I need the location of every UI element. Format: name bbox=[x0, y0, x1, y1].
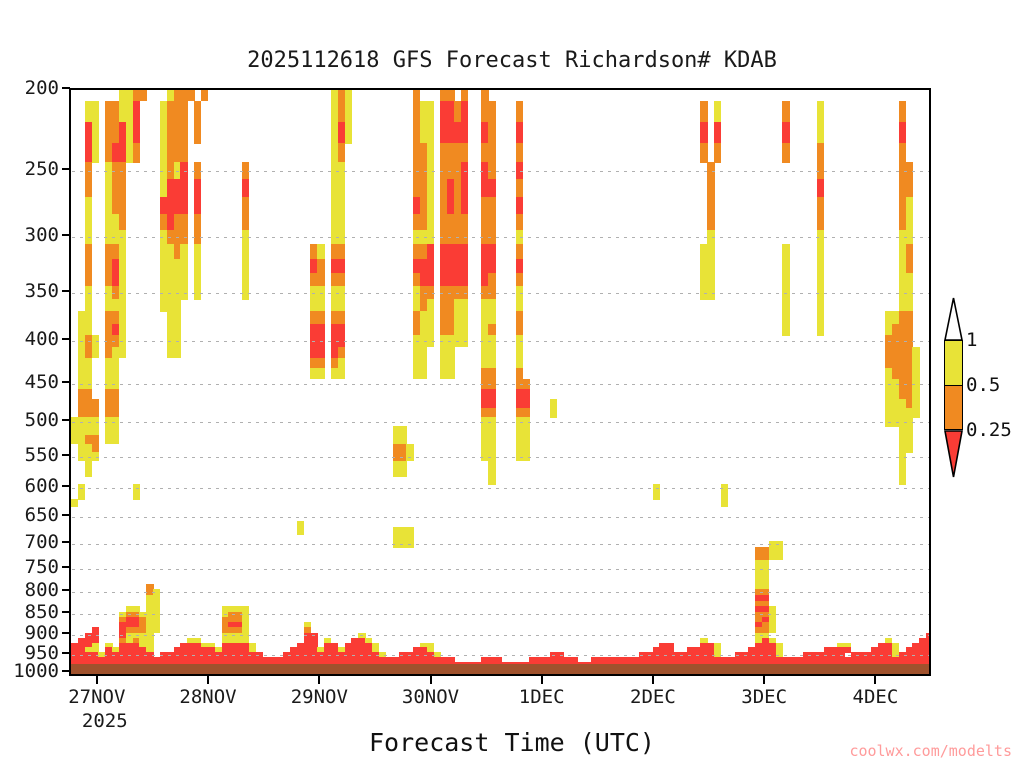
heatmap-cell bbox=[331, 162, 345, 180]
y-tick-mark bbox=[62, 338, 70, 340]
heatmap-cell bbox=[516, 179, 523, 197]
heatmap-cell bbox=[194, 179, 201, 197]
heatmap-cell bbox=[481, 347, 495, 359]
heatmap-cell bbox=[92, 122, 99, 144]
heatmap-cell bbox=[331, 299, 345, 312]
y-tick-mark bbox=[62, 454, 70, 456]
heatmap-cell bbox=[892, 324, 913, 336]
heatmap-cell bbox=[782, 244, 789, 259]
heatmap-cell bbox=[167, 230, 188, 245]
heatmap-cell bbox=[899, 162, 913, 180]
heatmap-cell bbox=[310, 273, 324, 287]
heatmap-cell bbox=[906, 244, 913, 259]
heatmap-cell bbox=[194, 214, 201, 230]
heatmap-cell bbox=[912, 347, 919, 359]
heatmap-cell bbox=[440, 311, 454, 324]
heatmap-cell bbox=[194, 244, 201, 259]
heatmap-cell bbox=[817, 244, 824, 259]
heatmap-cell bbox=[707, 230, 714, 245]
x-tick-label: 27NOV bbox=[68, 686, 125, 708]
heatmap-cell bbox=[78, 492, 85, 500]
heatmap-cell bbox=[92, 347, 99, 359]
heatmap-cell bbox=[242, 286, 249, 300]
heatmap-cell bbox=[700, 259, 714, 274]
heatmap-cell bbox=[516, 335, 523, 347]
heatmap-cell bbox=[516, 347, 523, 359]
heatmap-cell bbox=[85, 179, 92, 197]
heatmap-cell bbox=[700, 122, 707, 144]
heatmap-cell bbox=[817, 286, 824, 300]
heatmap-cell bbox=[242, 259, 249, 274]
heatmap-cell bbox=[817, 101, 824, 123]
heatmap-cell bbox=[119, 214, 126, 230]
heatmap-cell bbox=[516, 143, 523, 163]
y-tick-mark bbox=[62, 632, 70, 634]
heatmap-cell bbox=[85, 286, 92, 300]
heatmap-cell bbox=[133, 101, 140, 123]
heatmap-cell bbox=[420, 273, 434, 287]
heatmap-cell bbox=[516, 299, 523, 312]
heatmap-cell bbox=[899, 230, 913, 245]
heatmap-cell bbox=[427, 244, 434, 259]
heatmap-cell bbox=[440, 244, 468, 259]
heatmap-cell bbox=[516, 311, 523, 324]
heatmap-cell bbox=[653, 492, 660, 500]
heatmap-cell bbox=[393, 469, 407, 477]
heatmap-cell bbox=[119, 311, 126, 324]
heatmap-cell bbox=[92, 143, 99, 163]
heatmap-cell bbox=[427, 162, 434, 180]
heatmap-cell bbox=[133, 122, 140, 144]
y-tick-mark bbox=[62, 234, 70, 236]
heatmap-cell bbox=[420, 311, 434, 324]
heatmap-cell bbox=[440, 368, 454, 379]
heatmap-cell bbox=[194, 197, 201, 215]
heatmap-cell bbox=[167, 143, 188, 163]
heatmap-cells bbox=[71, 90, 929, 674]
heatmap-cell bbox=[912, 368, 919, 379]
heatmap-cell bbox=[310, 358, 324, 369]
heatmap-cell bbox=[700, 286, 714, 300]
heatmap-cell bbox=[413, 335, 434, 347]
heatmap-cell bbox=[105, 230, 126, 245]
colorbar-segment[interactable] bbox=[944, 340, 963, 385]
heatmap-cell bbox=[481, 214, 495, 230]
heatmap-cell bbox=[112, 143, 126, 163]
heatmap-cell bbox=[427, 214, 434, 230]
heatmap-cell bbox=[119, 244, 126, 259]
heatmap-cell bbox=[440, 101, 454, 123]
heatmap-cell bbox=[331, 230, 345, 245]
heatmap-cell bbox=[516, 273, 523, 287]
y-tick-mark bbox=[62, 419, 70, 421]
heatmap-cell bbox=[413, 244, 427, 259]
heatmap-cell bbox=[297, 527, 304, 534]
heatmap-cell bbox=[160, 299, 181, 312]
heatmap-cell bbox=[105, 299, 126, 312]
heatmap-cell bbox=[85, 197, 92, 215]
heatmap-cell bbox=[516, 452, 530, 461]
heatmap-cell bbox=[516, 368, 523, 379]
heatmap-cell bbox=[420, 286, 434, 300]
heatmap-cell bbox=[92, 335, 99, 347]
heatmap-cell bbox=[550, 408, 557, 418]
heatmap-cell bbox=[119, 101, 133, 123]
heatmap-cell bbox=[413, 214, 427, 230]
heatmap-cell bbox=[310, 347, 324, 359]
heatmap-cell bbox=[420, 122, 434, 144]
heatmap-cell bbox=[112, 162, 126, 180]
heatmap-cell bbox=[242, 230, 249, 245]
x-tick-mark bbox=[874, 676, 876, 684]
heatmap-cell bbox=[481, 244, 495, 259]
heatmap-cell bbox=[167, 311, 181, 324]
heatmap-cell bbox=[488, 273, 495, 287]
heatmap-cell bbox=[481, 197, 495, 215]
heatmap-cell bbox=[899, 101, 906, 123]
heatmap-cell bbox=[481, 358, 495, 369]
heatmap-cell bbox=[71, 499, 78, 507]
heatmap-cell bbox=[85, 299, 92, 312]
heatmap-cell bbox=[331, 286, 345, 300]
heatmap-cell bbox=[885, 347, 913, 359]
heatmap-cell bbox=[105, 244, 119, 259]
heatmap-cell bbox=[440, 299, 454, 312]
heatmap-cell bbox=[516, 197, 523, 215]
y-tick-label: 1000 bbox=[13, 660, 59, 682]
heatmap-cell bbox=[242, 179, 249, 197]
heatmap-cell bbox=[167, 324, 181, 336]
heatmap-cell bbox=[817, 259, 824, 274]
heatmap-cell bbox=[310, 311, 324, 324]
heatmap-cell bbox=[721, 499, 728, 507]
heatmap-cell bbox=[782, 259, 789, 274]
heatmap-cell bbox=[488, 324, 495, 336]
heatmap-cell bbox=[242, 244, 249, 259]
heatmap-cell bbox=[481, 230, 495, 245]
heatmap-cell bbox=[454, 324, 468, 336]
heatmap-cell bbox=[817, 230, 824, 245]
heatmap-cell bbox=[885, 379, 899, 390]
x-tick-label: 30NOV bbox=[402, 686, 459, 708]
colorbar-under-cap bbox=[944, 430, 963, 478]
heatmap-cell bbox=[338, 347, 345, 359]
heatmap-cell bbox=[413, 143, 427, 163]
heatmap-cell bbox=[78, 379, 92, 390]
heatmap-cell bbox=[906, 259, 913, 274]
heatmap-cell bbox=[413, 347, 427, 359]
y-tick-label: 200 bbox=[25, 77, 59, 99]
heatmap-cell bbox=[440, 122, 468, 144]
heatmap-cell bbox=[782, 273, 789, 287]
heatmap-cell bbox=[782, 311, 789, 324]
heatmap-cell bbox=[481, 335, 495, 347]
heatmap-cell bbox=[516, 122, 523, 144]
x-tick-mark bbox=[763, 676, 765, 684]
heatmap-cell bbox=[700, 273, 714, 287]
y-tick-label: 700 bbox=[25, 531, 59, 553]
x-tick-label: 28NOV bbox=[179, 686, 236, 708]
heatmap-cell bbox=[885, 335, 913, 347]
heatmap-cell bbox=[440, 358, 454, 369]
heatmap-cell bbox=[413, 230, 434, 245]
colorbar-tick-label: 0.5 bbox=[966, 374, 1000, 396]
heatmap-cell bbox=[160, 197, 188, 215]
y-tick-label: 650 bbox=[25, 504, 59, 526]
heatmap-cell bbox=[817, 179, 824, 197]
heatmap-cell bbox=[782, 324, 789, 336]
heatmap-cell bbox=[440, 273, 468, 287]
heatmap-cell bbox=[461, 162, 468, 180]
heatmap-cell bbox=[440, 90, 454, 101]
heatmap-cell bbox=[85, 259, 92, 274]
x-tick-label: 3DEC bbox=[741, 686, 787, 708]
colorbar-tick-label: 1 bbox=[966, 329, 977, 351]
y-tick-mark bbox=[62, 381, 70, 383]
heatmap-cell bbox=[817, 273, 824, 287]
heatmap-cell bbox=[892, 368, 913, 379]
heatmap-cell bbox=[488, 162, 495, 180]
heatmap-cell bbox=[899, 273, 913, 287]
heatmap-cell bbox=[105, 358, 119, 369]
heatmap-cell bbox=[912, 358, 919, 369]
heatmap-cell bbox=[194, 259, 201, 274]
watermark: coolwx.com/modelts bbox=[849, 742, 1012, 760]
x-tick-mark bbox=[430, 676, 432, 684]
heatmap-cell bbox=[194, 286, 201, 300]
heatmap-cell bbox=[331, 179, 345, 197]
heatmap-cell bbox=[516, 214, 523, 230]
heatmap-cell bbox=[133, 492, 140, 500]
heatmap-cell bbox=[85, 469, 92, 477]
y-tick-label: 350 bbox=[25, 280, 59, 302]
heatmap-cell bbox=[406, 452, 413, 461]
heatmap-cell bbox=[413, 259, 434, 274]
heatmap-cell bbox=[817, 162, 824, 180]
heatmap-cell bbox=[201, 90, 208, 101]
y-tick-label: 800 bbox=[25, 579, 59, 601]
heatmap-cell bbox=[242, 162, 249, 180]
heatmap-cell bbox=[488, 122, 495, 144]
heatmap-cell bbox=[413, 368, 427, 379]
heatmap-cell bbox=[331, 259, 345, 274]
heatmap-cell bbox=[331, 335, 345, 347]
heatmap-cell bbox=[769, 554, 783, 561]
heatmap-cell bbox=[707, 214, 714, 230]
heatmap-cell bbox=[427, 299, 434, 312]
heatmap-cell bbox=[105, 214, 119, 230]
heatmap-cell bbox=[899, 311, 913, 324]
heatmap-cell bbox=[427, 179, 434, 197]
heatmap-cell bbox=[782, 143, 789, 163]
heatmap-cell bbox=[105, 379, 119, 390]
heatmap-cell bbox=[899, 299, 913, 312]
heatmap-cell bbox=[174, 90, 195, 101]
heatmap-cell bbox=[817, 311, 824, 324]
heatmap-cell bbox=[481, 259, 495, 274]
heatmap-cell bbox=[85, 230, 92, 245]
heatmap-cell bbox=[413, 358, 427, 369]
heatmap-cell bbox=[331, 197, 345, 215]
heatmap-cell bbox=[461, 197, 468, 215]
heatmap-cell bbox=[105, 101, 119, 123]
heatmap-cell bbox=[700, 101, 707, 123]
heatmap-cell bbox=[817, 143, 824, 163]
heatmap-cell bbox=[516, 230, 523, 245]
heatmap-cell bbox=[481, 379, 495, 390]
heatmap-cell bbox=[331, 214, 345, 230]
heatmap-cell bbox=[516, 286, 523, 300]
heatmap-cell bbox=[413, 90, 420, 101]
x-tick-mark bbox=[96, 676, 98, 684]
y-tick-mark bbox=[62, 541, 70, 543]
heatmap-cell bbox=[78, 368, 92, 379]
heatmap-cell bbox=[78, 324, 92, 336]
heatmap-cell bbox=[454, 311, 468, 324]
heatmap-cell bbox=[167, 347, 181, 359]
heatmap-cell bbox=[119, 273, 126, 287]
heatmap-cell bbox=[194, 122, 201, 144]
heatmap-cell bbox=[817, 122, 824, 144]
y-tick-label: 450 bbox=[25, 371, 59, 393]
heatmap-cell bbox=[310, 324, 324, 336]
heatmap-cell bbox=[440, 214, 468, 230]
x-tick-label: 2DEC bbox=[630, 686, 676, 708]
heatmap-cell bbox=[899, 286, 913, 300]
heatmap-cell bbox=[310, 335, 324, 347]
y-tick-label: 600 bbox=[25, 475, 59, 497]
y-tick-label: 750 bbox=[25, 556, 59, 578]
heatmap-cell bbox=[516, 244, 523, 259]
heatmap-cell bbox=[782, 122, 789, 144]
heatmap-cell bbox=[420, 101, 434, 123]
heatmap-cell bbox=[899, 477, 906, 485]
y-tick-mark bbox=[62, 566, 70, 568]
heatmap-cell bbox=[461, 90, 468, 101]
heatmap-cell bbox=[516, 259, 523, 274]
heatmap-cell bbox=[112, 179, 126, 197]
heatmap-cell bbox=[160, 286, 188, 300]
heatmap-cell bbox=[481, 179, 495, 197]
heatmap-cell bbox=[440, 335, 468, 347]
heatmap-cell bbox=[85, 101, 99, 123]
y-tick-mark bbox=[62, 168, 70, 170]
heatmap-cell bbox=[167, 335, 181, 347]
heatmap-cell bbox=[899, 122, 906, 144]
heatmap-cell bbox=[899, 379, 913, 390]
heatmap-cell bbox=[85, 273, 92, 287]
heatmap-cell bbox=[454, 299, 468, 312]
heatmap-cell bbox=[317, 244, 324, 259]
heatmap-cell bbox=[782, 299, 789, 312]
colorbar-over-cap bbox=[944, 297, 963, 341]
heatmap-cell bbox=[310, 299, 324, 312]
y-tick-label: 550 bbox=[25, 444, 59, 466]
heatmap-cell bbox=[119, 324, 126, 336]
heatmap-cell bbox=[167, 122, 188, 144]
heatmap-cell bbox=[331, 311, 345, 324]
x-tick-mark bbox=[541, 676, 543, 684]
heatmap-cell bbox=[112, 197, 126, 215]
heatmap-cell bbox=[906, 197, 913, 215]
heatmap-cell bbox=[345, 90, 352, 101]
heatmap-cell bbox=[440, 162, 461, 180]
heatmap-cell bbox=[331, 324, 345, 336]
heatmap-cell bbox=[714, 122, 721, 144]
heatmap-cell bbox=[194, 273, 201, 287]
heatmap-cell bbox=[338, 358, 345, 369]
heatmap-cell bbox=[194, 230, 201, 245]
heatmap-cell bbox=[160, 244, 174, 259]
heatmap-cell bbox=[481, 286, 495, 300]
heatmap-cell bbox=[105, 368, 119, 379]
heatmap-cell bbox=[714, 143, 721, 163]
heatmap-cell bbox=[85, 162, 92, 180]
heatmap-cell bbox=[242, 197, 249, 215]
heatmap-cell bbox=[427, 197, 434, 215]
heatmap-cell bbox=[906, 214, 913, 230]
heatmap-cell bbox=[242, 214, 249, 230]
y-tick-mark bbox=[62, 589, 70, 591]
heatmap-cell bbox=[174, 214, 188, 230]
heatmap-cell bbox=[160, 273, 188, 287]
chart-title: 2025112618 GFS Forecast Richardson# KDAB bbox=[0, 48, 1024, 73]
heatmap-cell bbox=[105, 311, 119, 324]
heatmap-cell bbox=[338, 143, 345, 163]
heatmap-cell bbox=[700, 143, 707, 163]
y-tick-label: 850 bbox=[25, 601, 59, 623]
heatmap-cell bbox=[782, 101, 789, 123]
heatmap-cell bbox=[317, 259, 324, 274]
colorbar-segment[interactable] bbox=[944, 385, 963, 430]
heatmap-cell bbox=[413, 179, 427, 197]
heatmap-cell bbox=[420, 324, 434, 336]
heatmap-cell bbox=[707, 197, 714, 215]
y-tick-label: 300 bbox=[25, 224, 59, 246]
heatmap-cell bbox=[133, 143, 140, 163]
y-tick-label: 250 bbox=[25, 158, 59, 180]
heatmap-cell bbox=[105, 435, 119, 444]
heatmap-cell bbox=[180, 162, 187, 180]
colorbar[interactable]: 10.50.25 bbox=[944, 297, 963, 479]
x-tick-label: 29NOV bbox=[291, 686, 348, 708]
heatmap-cell bbox=[516, 358, 523, 369]
x-tick-mark bbox=[318, 676, 320, 684]
heatmap-cell bbox=[817, 214, 824, 230]
heatmap-cell bbox=[782, 286, 789, 300]
colorbar-tick-label: 0.25 bbox=[966, 419, 1012, 441]
heatmap-cell bbox=[481, 311, 495, 324]
heatmap-cell bbox=[440, 286, 468, 300]
heatmap-cell bbox=[516, 324, 523, 336]
heatmap-cell bbox=[817, 299, 824, 312]
heatmap-cell bbox=[440, 259, 468, 274]
heatmap-cell bbox=[885, 358, 913, 369]
heatmap-cell bbox=[85, 214, 92, 230]
heatmap-cell bbox=[481, 143, 495, 163]
heatmap-cell bbox=[481, 368, 495, 379]
y-tick-label: 400 bbox=[25, 328, 59, 350]
heatmap-cell bbox=[427, 143, 434, 163]
heatmap-cell bbox=[714, 101, 721, 123]
plot-area bbox=[69, 88, 931, 676]
x-tick-mark bbox=[207, 676, 209, 684]
heatmap-cell bbox=[310, 286, 324, 300]
heatmap-cell bbox=[700, 244, 714, 259]
heatmap-cell bbox=[461, 101, 468, 123]
heatmap-cell bbox=[160, 259, 188, 274]
heatmap-cell bbox=[769, 627, 776, 633]
